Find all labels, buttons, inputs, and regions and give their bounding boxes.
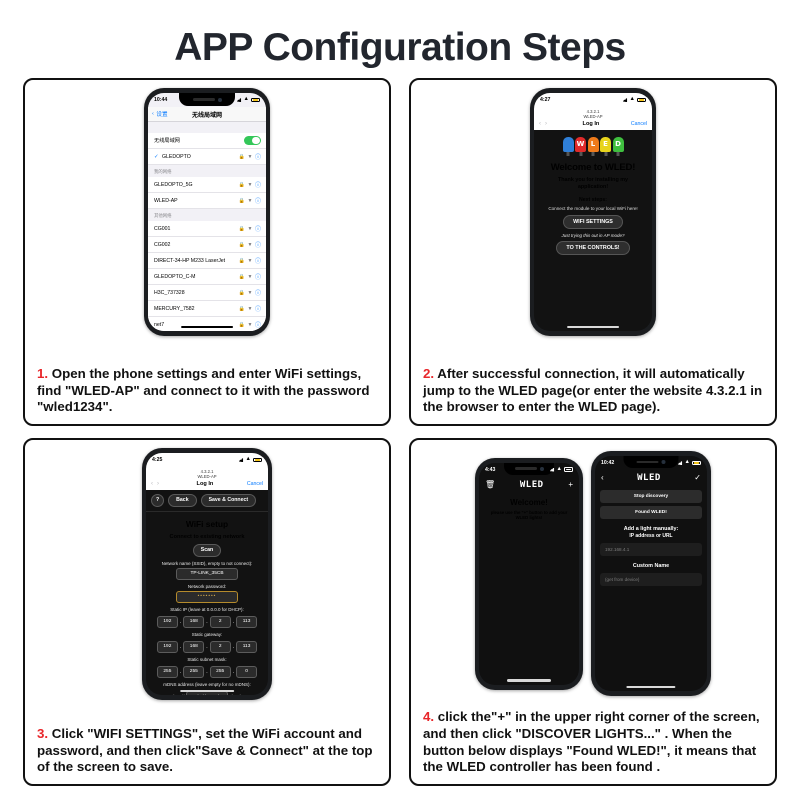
list-item[interactable]: CG002 🔒▼ⓘ <box>148 237 266 253</box>
static-ip-row: 192 . 168 . 2 . 113 <box>146 614 268 628</box>
caption-3: 3. Click "WIFI SETTINGS", set the WiFi a… <box>25 720 389 784</box>
list-item[interactable]: GLEDOPTO_C-M 🔒▼ⓘ <box>148 269 266 285</box>
info-icon[interactable]: ⓘ <box>255 180 261 189</box>
info-icon[interactable]: ⓘ <box>255 320 261 329</box>
wifi-icon: ▲ <box>557 467 562 473</box>
to-the-controls-button[interactable]: TO THE CONTROLS! <box>556 241 629 255</box>
back-button[interactable]: Back <box>168 494 196 507</box>
nav-arrows-icon[interactable]: ‹› <box>151 481 163 487</box>
status-bar: 10:44 ▲ <box>148 93 266 107</box>
cancel-button[interactable]: Cancel <box>631 121 647 127</box>
phone-screen: 4:43 ▲ 🗑 WLED + Welcome! <box>479 463 579 685</box>
battery-icon <box>637 98 646 103</box>
caption-number: 3. <box>37 726 48 741</box>
lock-icon: 🔒 <box>239 182 245 188</box>
welcome-note: please use the "+" button to add your WL… <box>479 510 579 522</box>
phone-screen: 10:44 ▲ ‹ 设置 无线局域网 <box>148 93 266 331</box>
save-connect-button[interactable]: Save & Connect <box>201 494 257 507</box>
ssid-label: DIRECT-34-HP M233 LaserJet <box>154 258 236 264</box>
welcome-title: Welcome to WLED! <box>534 155 652 177</box>
wifi-signal-icon: ▼ <box>247 154 252 160</box>
status-icons: ▲ <box>550 467 573 473</box>
custom-name-input[interactable]: (get from device) <box>600 573 702 586</box>
browser-tabs: ‹› Log In Cancel <box>534 120 652 129</box>
status-time: 10:42 <box>601 460 614 466</box>
wifi-signal-icon: ▼ <box>247 258 252 264</box>
add-icon[interactable]: + <box>568 481 573 489</box>
ip-dot: . <box>206 669 207 675</box>
browser-bar: 4.3.2.1 WLED-AP ‹› Log In Cancel <box>534 107 652 130</box>
app-title: WLED <box>637 473 661 483</box>
subnet-octet-4[interactable]: 0 <box>236 666 257 678</box>
panel-3-image: 4:25 ▲ 4.3.2.1 WLED-AP ‹› <box>25 440 389 720</box>
wifi-signal-icon: ▼ <box>247 306 252 312</box>
logo-letter: L <box>591 140 595 148</box>
row-icons: 🔒 ▼ ⓘ <box>239 152 261 161</box>
gateway-octet-2[interactable]: 168 <box>183 641 204 653</box>
row-icons: 🔒▼ⓘ <box>239 240 261 249</box>
static-ip-label: Static IP (leave at 0.0.0.0 for DHCP): <box>146 603 268 614</box>
caption-1: 1. Open the phone settings and enter WiF… <box>25 360 389 424</box>
mdns-prefix: http:// <box>173 694 184 695</box>
caption-number: 4. <box>423 709 434 724</box>
step-panel-3: 4:25 ▲ 4.3.2.1 WLED-AP ‹› <box>23 438 391 786</box>
delete-icon[interactable]: 🗑 <box>485 481 495 489</box>
ssid-label: WLED-AP <box>154 198 236 204</box>
ap-mode-note: Just trying this out in AP mode? <box>534 229 652 241</box>
ip-dot: . <box>233 619 234 625</box>
list-item[interactable]: GLEDOPTO_5G 🔒 ▼ ⓘ <box>148 177 266 193</box>
wifi-signal-icon: ▼ <box>247 198 252 204</box>
row-icons: 🔒▼ⓘ <box>239 288 261 297</box>
logo-letter: E <box>603 140 608 148</box>
status-bar: 4:27 ▲ <box>534 93 652 107</box>
caption-text: After successful connection, it will aut… <box>423 366 762 415</box>
info-icon[interactable]: ⓘ <box>255 152 261 161</box>
found-wled-button[interactable]: Found WLED! <box>600 506 702 519</box>
list-item[interactable]: H3C_737328 🔒▼ⓘ <box>148 285 266 301</box>
ip-dot: . <box>206 619 207 625</box>
status-time: 10:44 <box>154 97 167 103</box>
phone-mockup-wifi-setup: 4:25 ▲ 4.3.2.1 WLED-AP ‹› <box>142 448 272 700</box>
lock-icon: 🔒 <box>239 306 245 312</box>
logo-bulb-3: L <box>588 137 599 152</box>
browser-tabs: ‹› Log In Cancel <box>146 480 268 489</box>
row-icons: 🔒▼ⓘ <box>239 272 261 281</box>
info-icon[interactable]: ⓘ <box>255 256 261 265</box>
app-bar: 🗑 WLED + <box>479 477 579 494</box>
panel-4-image: 4:43 ▲ 🗑 WLED + Welcome! <box>411 440 775 703</box>
nav-bar: ‹ 设置 无线局域网 <box>148 107 266 122</box>
ip-dot: . <box>233 644 234 650</box>
ip-dot: . <box>180 669 181 675</box>
panel-2-image: 4:27 ▲ 4.3.2.1 WLED-AP ‹› <box>411 80 775 360</box>
lock-icon: 🔒 <box>239 290 245 296</box>
ip-dot: . <box>206 644 207 650</box>
ip-address-input[interactable]: 192.168.4.1 <box>600 543 702 556</box>
caption-text: click the"+" in the upper right corner o… <box>423 709 760 774</box>
page-title: APP Configuration Steps <box>0 0 800 78</box>
status-icons: ▲ <box>237 97 260 103</box>
list-item[interactable]: MERCURY_7582 🔒▼ⓘ <box>148 301 266 317</box>
ssid-label: GLEDOPTO_5G <box>154 182 236 188</box>
wifi-toggle-label: 无线局域网 <box>154 137 241 144</box>
home-indicator <box>567 326 619 329</box>
wifi-signal-icon: ▼ <box>247 290 252 296</box>
gateway-octet-3[interactable]: 2 <box>210 641 231 653</box>
back-icon[interactable]: ‹ <box>601 474 604 482</box>
phone-mockup-wled-app-welcome: 4:43 ▲ 🗑 WLED + Welcome! <box>475 458 583 690</box>
signal-icon <box>239 458 244 462</box>
status-time: 4:27 <box>540 97 550 103</box>
subnet-octet-1[interactable]: 255 <box>157 666 178 678</box>
caption-number: 1. <box>37 366 48 381</box>
phone-mockup-wifi-settings: 10:44 ▲ ‹ 设置 无线局域网 <box>144 88 270 336</box>
list-item[interactable]: DIRECT-34-HP M233 LaserJet 🔒▼ⓘ <box>148 253 266 269</box>
stop-discovery-button[interactable]: Stop discovery <box>600 490 702 503</box>
subnet-octet-2[interactable]: 255 <box>183 666 204 678</box>
next-steps-hint: Connect the module to your local WiFi he… <box>534 206 652 215</box>
info-icon[interactable]: ⓘ <box>255 288 261 297</box>
ip-dot: . <box>180 619 181 625</box>
row-icons: 🔒▼ⓘ <box>239 224 261 233</box>
connected-network-row[interactable]: ✓ GLEDOPTO 🔒 ▼ ⓘ <box>148 149 266 165</box>
status-bar: 4:25 ▲ <box>146 453 268 467</box>
logo-letter: W <box>577 140 585 148</box>
app-configuration-page: APP Configuration Steps 10:44 <box>0 0 800 800</box>
caption-4: 4. click the"+" in the upper right corne… <box>411 703 775 784</box>
static-ip-octet-3[interactable]: 2 <box>210 616 231 628</box>
home-indicator <box>626 686 675 689</box>
static-ip-octet-1[interactable]: 192 <box>157 616 178 628</box>
status-icons: ▲ <box>239 457 262 463</box>
wled-toolbar: ? Back Save & Connect <box>146 490 268 512</box>
add-manually-line1: Add a light manually: <box>595 522 707 533</box>
wifi-signal-icon: ▼ <box>247 322 252 328</box>
help-button[interactable]: ? <box>151 494 164 507</box>
section-subtitle: Connect to existing network <box>146 534 268 544</box>
lock-icon: 🔒 <box>239 154 245 160</box>
static-ip-octet-2[interactable]: 168 <box>183 616 204 628</box>
subnet-label: Static subnet mask: <box>146 653 268 664</box>
ssid-label: GLEDOPTO_C-M <box>154 274 236 280</box>
info-icon[interactable]: ⓘ <box>255 240 261 249</box>
home-indicator <box>507 679 551 682</box>
cancel-button[interactable]: Cancel <box>247 481 263 487</box>
row-icons: 🔒 ▼ ⓘ <box>239 196 261 205</box>
info-icon[interactable]: ⓘ <box>255 196 261 205</box>
gateway-label: Static gateway: <box>146 628 268 639</box>
caption-text: Click "WIFI SETTINGS", set the WiFi acco… <box>37 726 373 775</box>
gateway-octet-1[interactable]: 192 <box>157 641 178 653</box>
phone-mockup-wled-welcome: 4:27 ▲ 4.3.2.1 WLED-AP ‹› <box>530 88 656 336</box>
lock-icon: 🔒 <box>239 242 245 248</box>
battery-icon <box>253 458 262 463</box>
welcome-title: Welcome! <box>479 494 579 510</box>
caption-2: 2. After successful connection, it will … <box>411 360 775 424</box>
lock-icon: 🔒 <box>239 226 245 232</box>
battery-icon <box>692 461 701 466</box>
check-icon: ✓ <box>154 154 159 160</box>
ssid-label: CG001 <box>154 226 236 232</box>
lock-icon: 🔒 <box>239 274 245 280</box>
welcome-subtitle: Thank you for installing my application! <box>534 177 652 198</box>
subnet-octet-3[interactable]: 255 <box>210 666 231 678</box>
wifi-toggle-switch[interactable] <box>244 136 261 146</box>
section-title: WiFi setup <box>146 512 268 534</box>
scan-button[interactable]: Scan <box>193 544 221 557</box>
status-icons: ▲ <box>678 460 701 466</box>
lock-icon: 🔒 <box>239 198 245 204</box>
logo-bulb-5: D <box>613 137 624 152</box>
signal-icon <box>678 461 683 465</box>
nav-title: 无线局域网 <box>148 110 266 119</box>
wifi-icon: ▲ <box>244 97 249 103</box>
info-icon[interactable]: ⓘ <box>255 304 261 313</box>
password-label: Network password: <box>146 580 268 591</box>
row-icons: 🔒▼ⓘ <box>239 256 261 265</box>
gateway-octet-4[interactable]: 113 <box>236 641 257 653</box>
phone-mockup-discover-lights: 10:42 ▲ ‹ WLED ✓ Stop dis <box>591 451 711 696</box>
list-item[interactable]: WLED-AP 🔒 ▼ ⓘ <box>148 193 266 209</box>
status-time: 4:43 <box>485 467 495 473</box>
wifi-toggle-row[interactable]: 无线局域网 <box>148 133 266 149</box>
row-icons: 🔒▼ⓘ <box>239 304 261 313</box>
logo-bulb-1 <box>563 137 574 152</box>
battery-icon <box>251 98 260 103</box>
info-icon[interactable]: ⓘ <box>255 224 261 233</box>
list-item[interactable]: net7 🔒▼ⓘ <box>148 317 266 331</box>
logo-bulb-4: E <box>600 137 611 152</box>
nav-arrows-icon[interactable]: ‹› <box>539 121 551 127</box>
logo-letter: D <box>615 140 621 148</box>
wifi-signal-icon: ▼ <box>247 274 252 280</box>
status-time: 4:25 <box>152 457 162 463</box>
status-bar: 4:43 ▲ <box>479 463 579 477</box>
step-panel-1: 10:44 ▲ ‹ 设置 无线局域网 <box>23 78 391 426</box>
panel-1-image: 10:44 ▲ ‹ 设置 无线局域网 <box>25 80 389 360</box>
mdns-suffix: .local <box>230 694 240 695</box>
subnet-row: 255 . 255 . 255 . 0 <box>146 664 268 678</box>
password-input[interactable]: ••••••• <box>176 591 238 603</box>
browser-tab-label: Log In <box>197 481 214 487</box>
ssid-label: Network name (SSID), empty to not connec… <box>146 557 268 568</box>
phone-screen: 4:25 ▲ 4.3.2.1 WLED-AP ‹› <box>146 453 268 695</box>
check-icon[interactable]: ✓ <box>694 474 701 482</box>
ip-dot: . <box>180 644 181 650</box>
wifi-icon: ▲ <box>630 97 635 103</box>
wifi-signal-icon: ▼ <box>247 182 252 188</box>
browser-tab-label: Log In <box>583 121 600 127</box>
add-manually-line2: IP address or URL <box>595 533 707 540</box>
signal-icon <box>550 468 555 472</box>
wifi-icon: ▲ <box>246 457 251 463</box>
spacer-section <box>148 122 266 133</box>
home-indicator <box>181 326 233 329</box>
steps-grid: 10:44 ▲ ‹ 设置 无线局域网 <box>0 78 800 786</box>
signal-icon <box>237 98 242 102</box>
lock-icon: 🔒 <box>239 258 245 264</box>
row-icons: 🔒 ▼ ⓘ <box>239 180 261 189</box>
caption-number: 2. <box>423 366 434 381</box>
phone-screen: 10:42 ▲ ‹ WLED ✓ Stop dis <box>595 456 707 691</box>
list-item[interactable]: CG001 🔒▼ⓘ <box>148 221 266 237</box>
ssid-label: H3C_737328 <box>154 290 236 296</box>
caption-text: Open the phone settings and enter WiFi s… <box>37 366 369 415</box>
wifi-signal-icon: ▼ <box>247 226 252 232</box>
status-icons: ▲ <box>623 97 646 103</box>
other-networks-header: 其他网络 <box>148 209 266 221</box>
next-steps-label: Next steps: <box>534 197 652 206</box>
static-ip-octet-4[interactable]: 113 <box>236 616 257 628</box>
connected-ssid: GLEDOPTO <box>162 154 236 160</box>
phone-screen: 4:27 ▲ 4.3.2.1 WLED-AP ‹› <box>534 93 652 331</box>
home-indicator <box>180 690 234 693</box>
wifi-signal-icon: ▼ <box>247 242 252 248</box>
lock-icon: 🔒 <box>239 322 245 328</box>
status-bar: 10:42 ▲ <box>595 456 707 470</box>
wled-logo: W L E D <box>534 130 652 155</box>
gateway-row: 192 . 168 . 2 . 113 <box>146 639 268 653</box>
custom-name-label: Custom Name <box>595 559 707 570</box>
info-icon[interactable]: ⓘ <box>255 272 261 281</box>
step-panel-2: 4:27 ▲ 4.3.2.1 WLED-AP ‹› <box>409 78 777 426</box>
row-icons: 🔒▼ⓘ <box>239 320 261 329</box>
ssid-label: CG002 <box>154 242 236 248</box>
ssid-input[interactable]: TP-LINK_35CB <box>176 568 238 580</box>
signal-icon <box>623 98 628 102</box>
app-title: WLED <box>520 480 544 490</box>
battery-icon <box>564 467 573 472</box>
app-bar: ‹ WLED ✓ <box>595 470 707 487</box>
ssid-label: MERCURY_7582 <box>154 306 236 312</box>
mdns-label: mDNS address (leave empty for no mDNS): <box>146 678 268 689</box>
step-panel-4: 4:43 ▲ 🗑 WLED + Welcome! <box>409 438 777 786</box>
my-networks-header: 我的网络 <box>148 165 266 177</box>
browser-bar: 4.3.2.1 WLED-AP ‹› Log In Cancel <box>146 467 268 490</box>
logo-bulb-2: W <box>575 137 586 152</box>
ip-dot: . <box>233 669 234 675</box>
wifi-settings-button[interactable]: WIFI SETTINGS <box>563 215 623 229</box>
wifi-icon: ▲ <box>685 460 690 466</box>
